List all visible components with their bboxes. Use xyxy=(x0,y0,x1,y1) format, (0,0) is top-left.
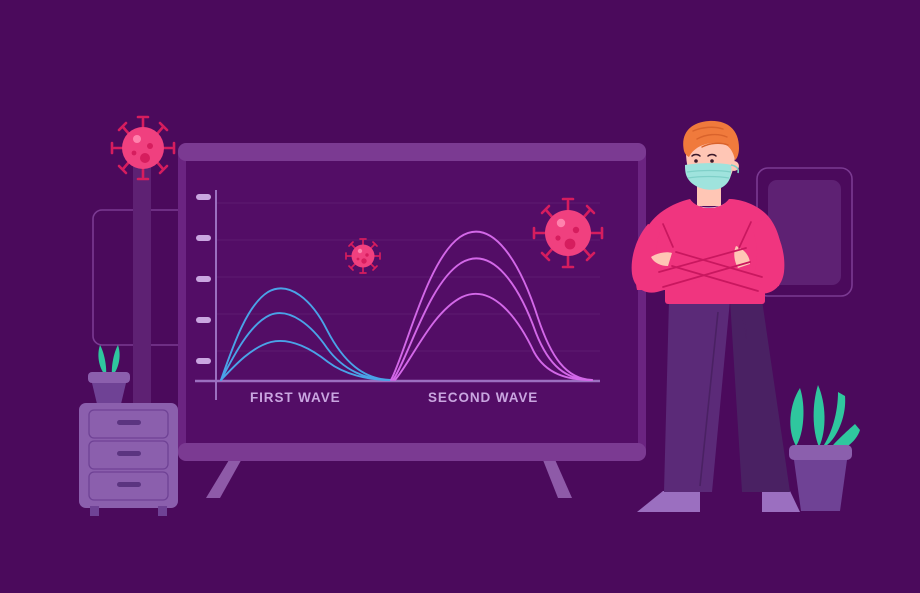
virus-icon-chart-large xyxy=(534,199,602,267)
drawer-cabinet xyxy=(79,403,178,516)
small-pot-rim xyxy=(88,372,130,383)
y-tick-2 xyxy=(196,235,211,241)
large-pot-body xyxy=(794,460,847,511)
virus-icon-chart-small xyxy=(346,239,380,273)
y-tick-5 xyxy=(196,358,211,364)
y-tick-1 xyxy=(196,194,211,200)
virus-icon-top-left xyxy=(112,117,174,179)
tv-bottom-band xyxy=(178,443,646,461)
y-tick-3 xyxy=(196,276,211,282)
cabinet-drawer-2-handle xyxy=(117,451,141,456)
cabinet-drawer-3-handle xyxy=(117,482,141,487)
y-tick-4 xyxy=(196,317,211,323)
cabinet-foot-left xyxy=(90,506,99,516)
second-wave-label: SECOND WAVE xyxy=(428,390,538,405)
illustration-scene: FIRST WAVE SECOND WAVE xyxy=(0,0,920,593)
first-wave-label: FIRST WAVE xyxy=(250,390,341,405)
cabinet-foot-right xyxy=(158,506,167,516)
cabinet-drawer-1-handle xyxy=(117,420,141,425)
tv-top-band xyxy=(178,143,646,161)
small-pot-body xyxy=(92,383,126,404)
large-pot-rim xyxy=(789,445,852,460)
